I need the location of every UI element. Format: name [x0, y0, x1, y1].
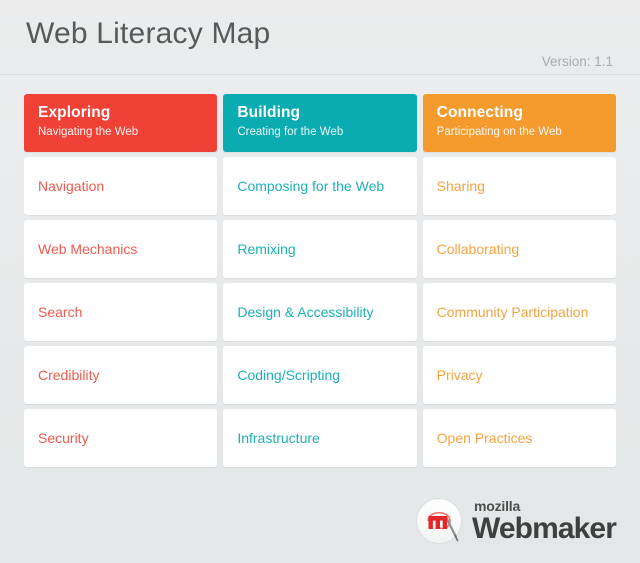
competency-card[interactable]: Security [24, 409, 217, 467]
competency-label: Privacy [437, 366, 483, 384]
column-exploring: Exploring Navigating the Web Navigation … [24, 94, 217, 467]
column-subtitle: Participating on the Web [437, 125, 602, 139]
competency-label: Community Participation [437, 303, 589, 321]
footer-branding[interactable]: mozilla Webmaker [415, 497, 616, 545]
competency-card[interactable]: Remixing [223, 220, 416, 278]
webmaker-wordmark: mozilla Webmaker [472, 499, 616, 544]
competency-card[interactable]: Collaborating [423, 220, 616, 278]
competency-card[interactable]: Navigation [24, 157, 217, 215]
competency-label: Sharing [437, 177, 485, 195]
competency-label: Open Practices [437, 429, 533, 447]
column-header-building[interactable]: Building Creating for the Web [223, 94, 416, 152]
column-title: Connecting [437, 103, 602, 123]
column-subtitle: Creating for the Web [237, 125, 402, 139]
competency-label: Design & Accessibility [237, 303, 373, 321]
competency-label: Coding/Scripting [237, 366, 340, 384]
column-header-exploring[interactable]: Exploring Navigating the Web [24, 94, 217, 152]
brand-mozilla-text: mozilla [474, 499, 616, 513]
competency-label: Remixing [237, 240, 295, 258]
competency-card[interactable]: Search [24, 283, 217, 341]
column-building: Building Creating for the Web Composing … [223, 94, 416, 467]
competency-label: Credibility [38, 366, 99, 384]
competency-label: Navigation [38, 177, 104, 195]
column-title: Building [237, 103, 402, 123]
competency-label: Security [38, 429, 89, 447]
competency-card[interactable]: Composing for the Web [223, 157, 416, 215]
competency-card[interactable]: Privacy [423, 346, 616, 404]
competency-card[interactable]: Credibility [24, 346, 217, 404]
competency-card[interactable]: Web Mechanics [24, 220, 217, 278]
competency-label: Composing for the Web [237, 177, 384, 195]
version-label: Version: 1.1 [542, 54, 613, 70]
competency-card[interactable]: Sharing [423, 157, 616, 215]
competency-card[interactable]: Infrastructure [223, 409, 416, 467]
column-connecting: Connecting Participating on the Web Shar… [423, 94, 616, 467]
competency-card[interactable]: Community Participation [423, 283, 616, 341]
competency-card[interactable]: Coding/Scripting [223, 346, 416, 404]
literacy-map-grid: Exploring Navigating the Web Navigation … [24, 94, 616, 467]
column-header-connecting[interactable]: Connecting Participating on the Web [423, 94, 616, 152]
competency-card[interactable]: Design & Accessibility [223, 283, 416, 341]
competency-label: Search [38, 303, 82, 321]
mozilla-webmaker-logo-icon [415, 497, 463, 545]
page-header: Web Literacy Map Version: 1.1 [0, 0, 640, 75]
brand-webmaker-text: Webmaker [472, 514, 616, 544]
competency-card[interactable]: Open Practices [423, 409, 616, 467]
page-title: Web Literacy Map [26, 14, 270, 54]
competency-label: Infrastructure [237, 429, 319, 447]
competency-label: Web Mechanics [38, 240, 137, 258]
column-title: Exploring [38, 103, 203, 123]
column-subtitle: Navigating the Web [38, 125, 203, 139]
competency-label: Collaborating [437, 240, 520, 258]
web-literacy-map-page: Web Literacy Map Version: 1.1 Exploring … [0, 0, 640, 563]
